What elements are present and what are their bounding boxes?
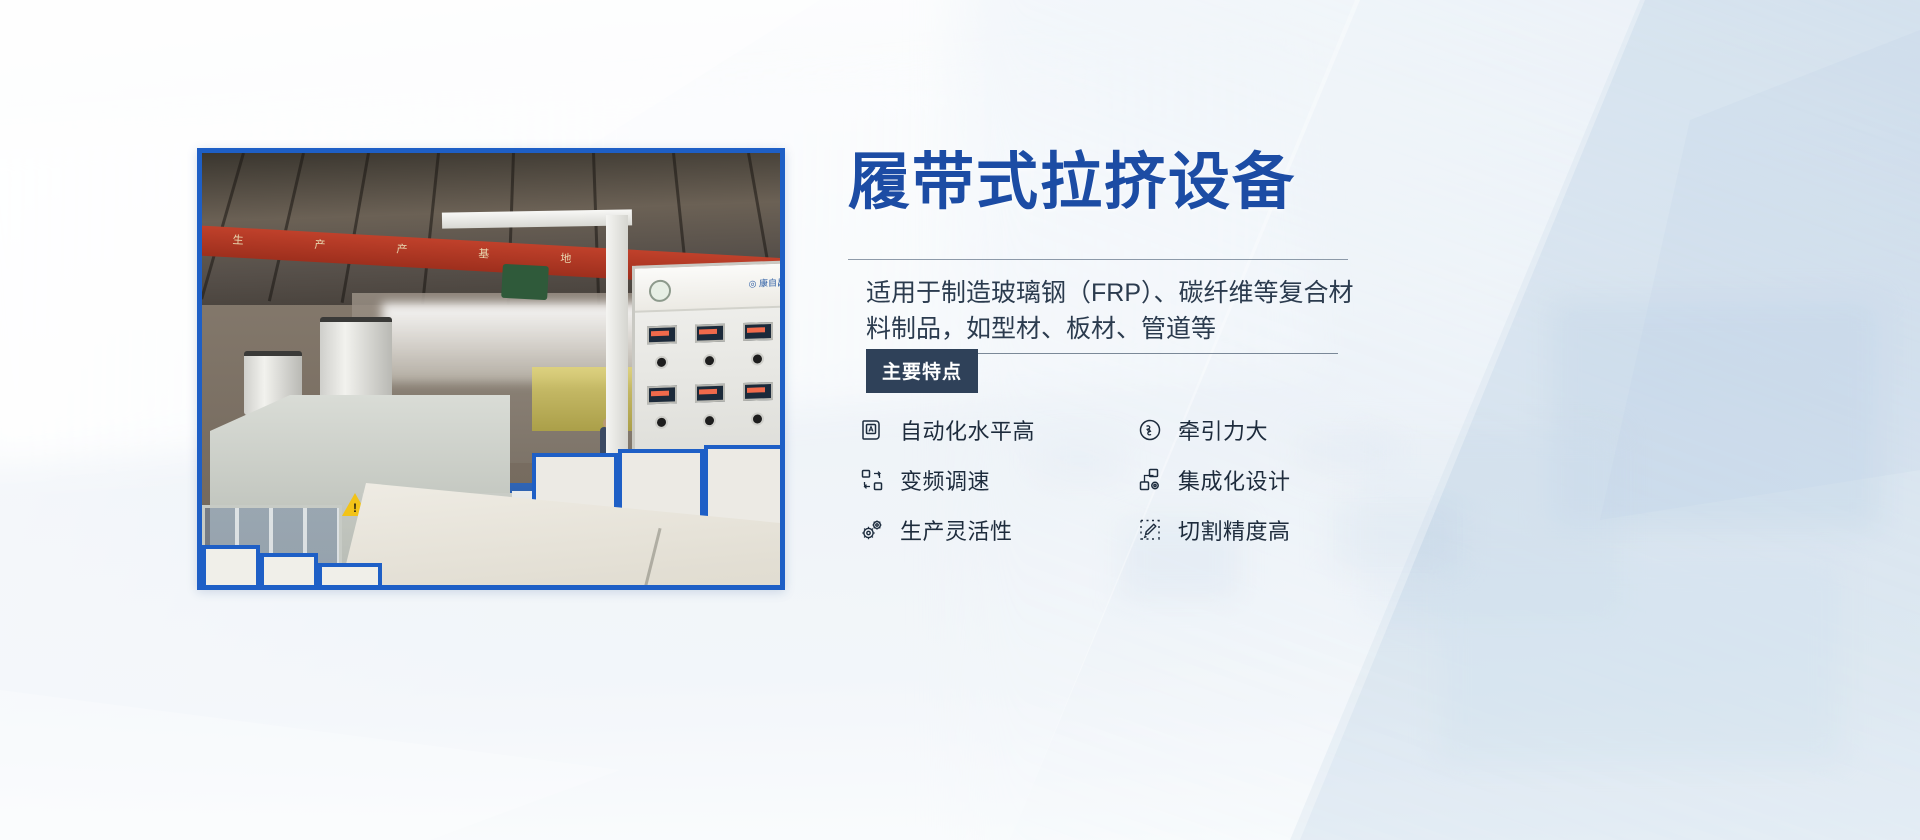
feature-item-automation[interactable]: 自动化水平高 — [858, 414, 1136, 446]
support-arm — [442, 209, 632, 228]
machine-cabinet — [260, 553, 318, 590]
banner-subtitle: 适用于制造玻璃钢（FRP）、碳纤维等复合材料制品，如型材、板材、管道等 — [866, 276, 1356, 347]
crane-hoist — [501, 264, 549, 300]
precision-cut-icon — [1136, 516, 1164, 544]
product-photo: 生 产 产 基 地 ◎ 康自昌 — [197, 148, 785, 590]
page-title: 履带式拉挤设备 — [848, 150, 1388, 217]
feature-item-frequency[interactable]: 变频调速 — [858, 464, 1136, 496]
banner-content: 履带式拉挤设备 — [848, 150, 1388, 217]
machine-cabinet — [318, 563, 382, 590]
feature-label: 集成化设计 — [1178, 464, 1291, 496]
frequency-icon — [858, 466, 886, 494]
integration-icon — [1136, 466, 1164, 494]
cabinet-header: ◎ 康自昌 — [635, 263, 785, 313]
photo-image: 生 产 产 基 地 ◎ 康自昌 — [202, 153, 780, 585]
traction-icon — [1136, 416, 1164, 444]
feature-item-precision[interactable]: 切割精度高 — [1136, 514, 1378, 546]
product-banner: 生 产 产 基 地 ◎ 康自昌 — [0, 0, 1920, 840]
status-badge: 主要特点 — [866, 349, 978, 393]
gauge-icon — [649, 280, 671, 303]
feature-item-traction[interactable]: 牵引力大 — [1136, 414, 1378, 446]
feature-label: 变频调速 — [900, 464, 990, 496]
brand-logo: ◎ 康自昌 — [749, 276, 785, 290]
feature-item-integration[interactable]: 集成化设计 — [1136, 464, 1378, 496]
feature-label: 生产灵活性 — [900, 514, 1013, 546]
gears-icon — [858, 516, 886, 544]
machine-cabinet — [202, 545, 260, 590]
title-divider — [848, 259, 1348, 260]
feature-label: 牵引力大 — [1178, 414, 1268, 446]
feature-item-flexibility[interactable]: 生产灵活性 — [858, 514, 1136, 546]
feature-list: 自动化水平高 牵引力大 — [858, 405, 1378, 555]
feature-label: 自动化水平高 — [900, 414, 1035, 446]
automation-icon — [858, 416, 886, 444]
feature-label: 切割精度高 — [1178, 514, 1291, 546]
